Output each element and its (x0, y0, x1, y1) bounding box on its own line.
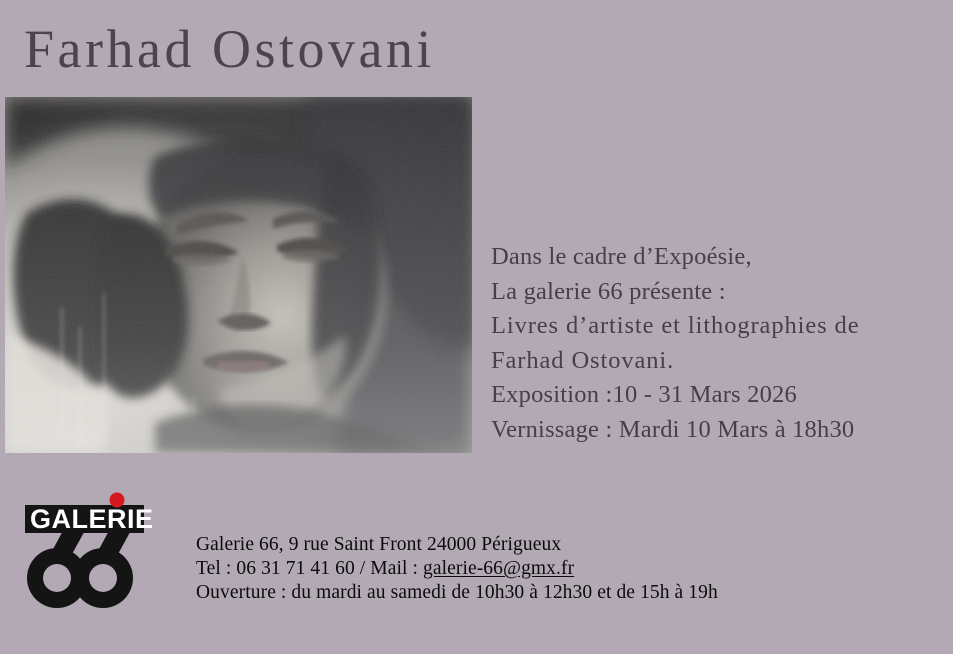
artwork-image (5, 97, 472, 453)
contact-email-link[interactable]: galerie-66@gmx.fr (423, 558, 574, 579)
page-title: Farhad Ostovani (24, 22, 435, 76)
contact-address: Galerie 66, 9 rue Saint Front 24000 Péri… (196, 533, 718, 557)
contact-block: Galerie 66, 9 rue Saint Front 24000 Péri… (196, 533, 718, 605)
contact-phone-label: Tel : 06 31 71 41 60 / Mail : (196, 558, 423, 579)
announcement-vernissage: Vernissage : Mardi 10 Mars à 18h30 (491, 413, 931, 448)
exhibition-poster: Farhad Ostovani (0, 0, 953, 654)
announcement-text: Dans le cadre d’Expoésie, La galerie 66 … (491, 240, 931, 447)
announcement-exposition-dates: Exposition :10 - 31 Mars 2026 (491, 378, 931, 413)
logo-wordmark: GALERIE (30, 504, 154, 534)
announcement-line-3: Livres d’artiste et lithographies de (491, 309, 931, 344)
announcement-line-4: Farhad Ostovani. (491, 344, 931, 379)
contact-phone-mail: Tel : 06 31 71 41 60 / Mail : galerie-66… (196, 557, 718, 581)
gallery-logo-mark: GALERIE (16, 490, 166, 615)
artwork-illustration (5, 97, 472, 453)
gallery-logo: GALERIE (16, 490, 166, 615)
announcement-line-2: La galerie 66 présente : (491, 275, 931, 310)
announcement-line-1: Dans le cadre d’Expoésie, (491, 240, 931, 275)
contact-hours: Ouverture : du mardi au samedi de 10h30 … (196, 581, 718, 605)
logo-numerals (27, 525, 134, 608)
